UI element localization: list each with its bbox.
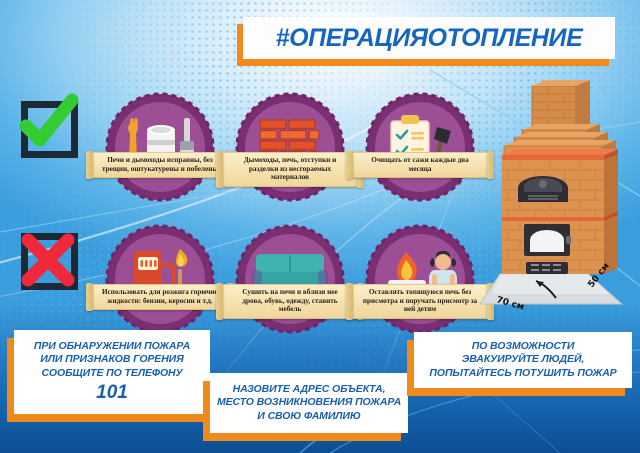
- rule-label-2: Дымоходы, печь, отступки и разделки из н…: [223, 152, 357, 187]
- cta-mid-line-2: МЕСТО ВОЗНИКНОВЕНИЯ ПОЖАРА: [217, 396, 401, 410]
- cta-left-line-2: ИЛИ ПРИЗНАКОВ ГОРЕНИЯ: [40, 353, 183, 367]
- rule-label-4: Использовать для розжига горючие жидкост…: [93, 284, 227, 310]
- rule-badge-2: Дымоходы, печь, отступки и разделки из н…: [235, 92, 345, 202]
- rule-label-4-text: Использовать для розжига горючие жидкост…: [102, 288, 218, 305]
- poster-root: #ОПЕРАЦИЯОТОПЛЕНИЕ: [0, 0, 640, 453]
- rule-label-6-text: Оставлять топящуюся печь без присмотра и…: [362, 288, 478, 314]
- rule-badge-6: Оставлять топящуюся печь без присмотра и…: [365, 224, 475, 334]
- stove-chimney: [532, 80, 590, 130]
- poster-title: #ОПЕРАЦИЯОТОПЛЕНИЕ: [243, 17, 615, 61]
- stove-firebox-door: [518, 176, 568, 202]
- rule-label-1: Печи и дымоходы исправны, без трещин, ош…: [93, 152, 227, 178]
- emergency-phone-number: 101: [96, 382, 128, 404]
- rule-label-6: Оставлять топящуюся печь без присмотра и…: [353, 284, 487, 319]
- rule-badge-4: Использовать для розжига горючие жидкост…: [105, 224, 215, 334]
- stove-cornice: [502, 124, 618, 160]
- brick-stove-illustration: 70 см 50 см: [470, 78, 640, 328]
- cta-right-line-3: ПОПЫТАЙТЕСЬ ПОТУШИТЬ ПОЖАР: [429, 367, 616, 381]
- check-mark-icon: [10, 86, 86, 162]
- cta-right-line-2: ЭВАКУИРУЙТЕ ЛЮДЕЙ,: [462, 353, 584, 367]
- rule-label-1-text: Печи и дымоходы исправны, без трещин, ош…: [102, 156, 218, 173]
- banner-card: НАЗОВИТЕ АДРЕС ОБЪЕКТА, МЕСТО ВОЗНИКНОВЕ…: [210, 373, 408, 433]
- emergency-call-banner: ПРИ ОБНАРУЖЕНИИ ПОЖАРА ИЛИ ПРИЗНАКОВ ГОР…: [14, 330, 210, 414]
- stove-ash-door: [526, 262, 568, 274]
- banner-card: ПРИ ОБНАРУЖЕНИИ ПОЖАРА ИЛИ ПРИЗНАКОВ ГОР…: [14, 330, 210, 414]
- rule-label-2-text: Дымоходы, печь, отступки и разделки из н…: [232, 156, 348, 182]
- rule-label-3: Очищать от сажи каждые два месяца: [353, 152, 487, 178]
- forbidden-marker: [16, 228, 78, 290]
- banner-card: ПО ВОЗМОЖНОСТИ ЭВАКУИРУЙТЕ ЛЮДЕЙ, ПОПЫТА…: [414, 332, 632, 388]
- cta-right-line-1: ПО ВОЗМОЖНОСТИ: [472, 340, 575, 354]
- rule-label-3-text: Очищать от сажи каждые два месяца: [362, 156, 478, 173]
- report-details-banner: НАЗОВИТЕ АДРЕС ОБЪЕКТА, МЕСТО ВОЗНИКНОВЕ…: [210, 373, 408, 433]
- title-bar: #ОПЕРАЦИЯОТОПЛЕНИЕ: [243, 17, 615, 59]
- rule-label-5: Сушить на печи и вблизи нее дрова, обувь…: [223, 284, 357, 319]
- rule-label-5-text: Сушить на печи и вблизи нее дрова, обувь…: [232, 288, 348, 314]
- evacuation-banner: ПО ВОЗМОЖНОСТИ ЭВАКУИРУЙТЕ ЛЮДЕЙ, ПОПЫТА…: [414, 332, 632, 388]
- cta-left-line-1: ПРИ ОБНАРУЖЕНИИ ПОЖАРА: [34, 340, 190, 354]
- cta-mid-line-1: НАЗОВИТЕ АДРЕС ОБЪЕКТА,: [233, 383, 386, 397]
- rule-badge-3: Очищать от сажи каждые два месяца: [365, 92, 475, 202]
- rule-badge-5: Сушить на печи и вблизи нее дрова, обувь…: [235, 224, 345, 334]
- title-text: #ОПЕРАЦИЯОТОПЛЕНИЕ: [276, 24, 583, 53]
- cross-mark-icon: [10, 218, 86, 294]
- cta-mid-line-3: И СВОЮ ФАМИЛИЮ: [257, 410, 360, 424]
- stove-oven-door: [524, 224, 571, 256]
- rule-badge-1: Печи и дымоходы исправны, без трещин, ош…: [105, 92, 215, 202]
- cta-left-line-3: СООБЩИТЕ ПО ТЕЛЕФОНУ: [41, 367, 182, 381]
- allowed-marker: [16, 96, 78, 158]
